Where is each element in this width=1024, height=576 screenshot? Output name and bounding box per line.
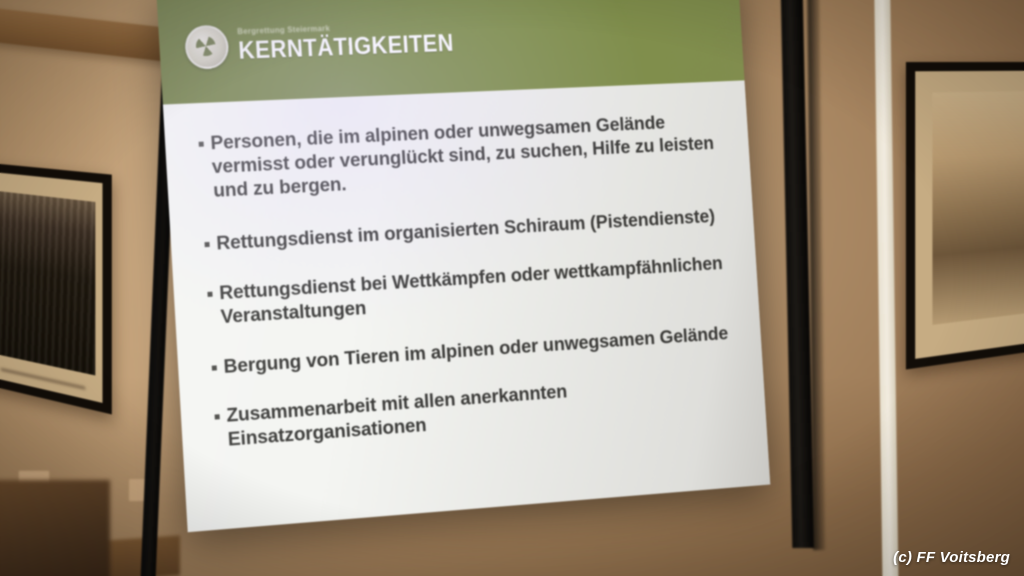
slide-bullet: Zusammenarbeit mit allen anerkannten Ein… (214, 369, 739, 453)
framed-photo-left (0, 162, 112, 415)
slide-bullet: Bergung von Tieren im alpinen oder unweg… (211, 322, 734, 380)
picture-artwork (932, 91, 1024, 325)
projected-slide: Bergrettung Steiermark KERNTÄTIGKEITEN P… (156, 0, 770, 532)
photo-scene: Bergrettung Steiermark KERNTÄTIGKEITEN P… (0, 0, 1024, 576)
slide-bullet: Rettungsdienst im organisierten Schiraum… (204, 205, 727, 257)
slide-bullet-text: Rettungsdienst bei Wettkämpfen oder wett… (219, 253, 727, 330)
slide-header-texts: Bergrettung Steiermark KERNTÄTIGKEITEN (237, 20, 473, 64)
slide-bullet-text: Zusammenarbeit mit allen anerkannten Ein… (226, 370, 734, 453)
slide-title: KERNTÄTIGKEITEN (238, 31, 455, 63)
slide-bullet: Rettungsdienst bei Wettkämpfen oder wett… (207, 253, 732, 331)
bullet-marker-icon (212, 365, 217, 370)
slide-bullet: Personen, die im alpinen oder unwegsamen… (198, 110, 724, 204)
slide-body: Personen, die im alpinen oder unwegsamen… (163, 80, 770, 532)
framed-photo-right (906, 62, 1024, 370)
bullet-marker-icon (199, 142, 204, 147)
dark-foreground-object (0, 480, 110, 576)
bergrettung-emblem-icon (184, 25, 230, 70)
bullet-marker-icon (205, 242, 210, 247)
projection-screen: Bergrettung Steiermark KERNTÄTIGKEITEN P… (150, 0, 840, 570)
bullet-marker-icon (215, 415, 220, 420)
picture-artwork (0, 191, 95, 375)
copyright-watermark: (c) FF Voitsberg (893, 549, 1010, 566)
slide-bullet-text: Rettungsdienst im organisierten Schiraum… (216, 206, 716, 256)
slide-bullet-text: Bergung von Tieren im alpinen oder unweg… (223, 323, 729, 380)
bullet-marker-icon (207, 292, 212, 297)
slide-bullet-text: Personen, die im alpinen oder unwegsamen… (210, 110, 719, 203)
